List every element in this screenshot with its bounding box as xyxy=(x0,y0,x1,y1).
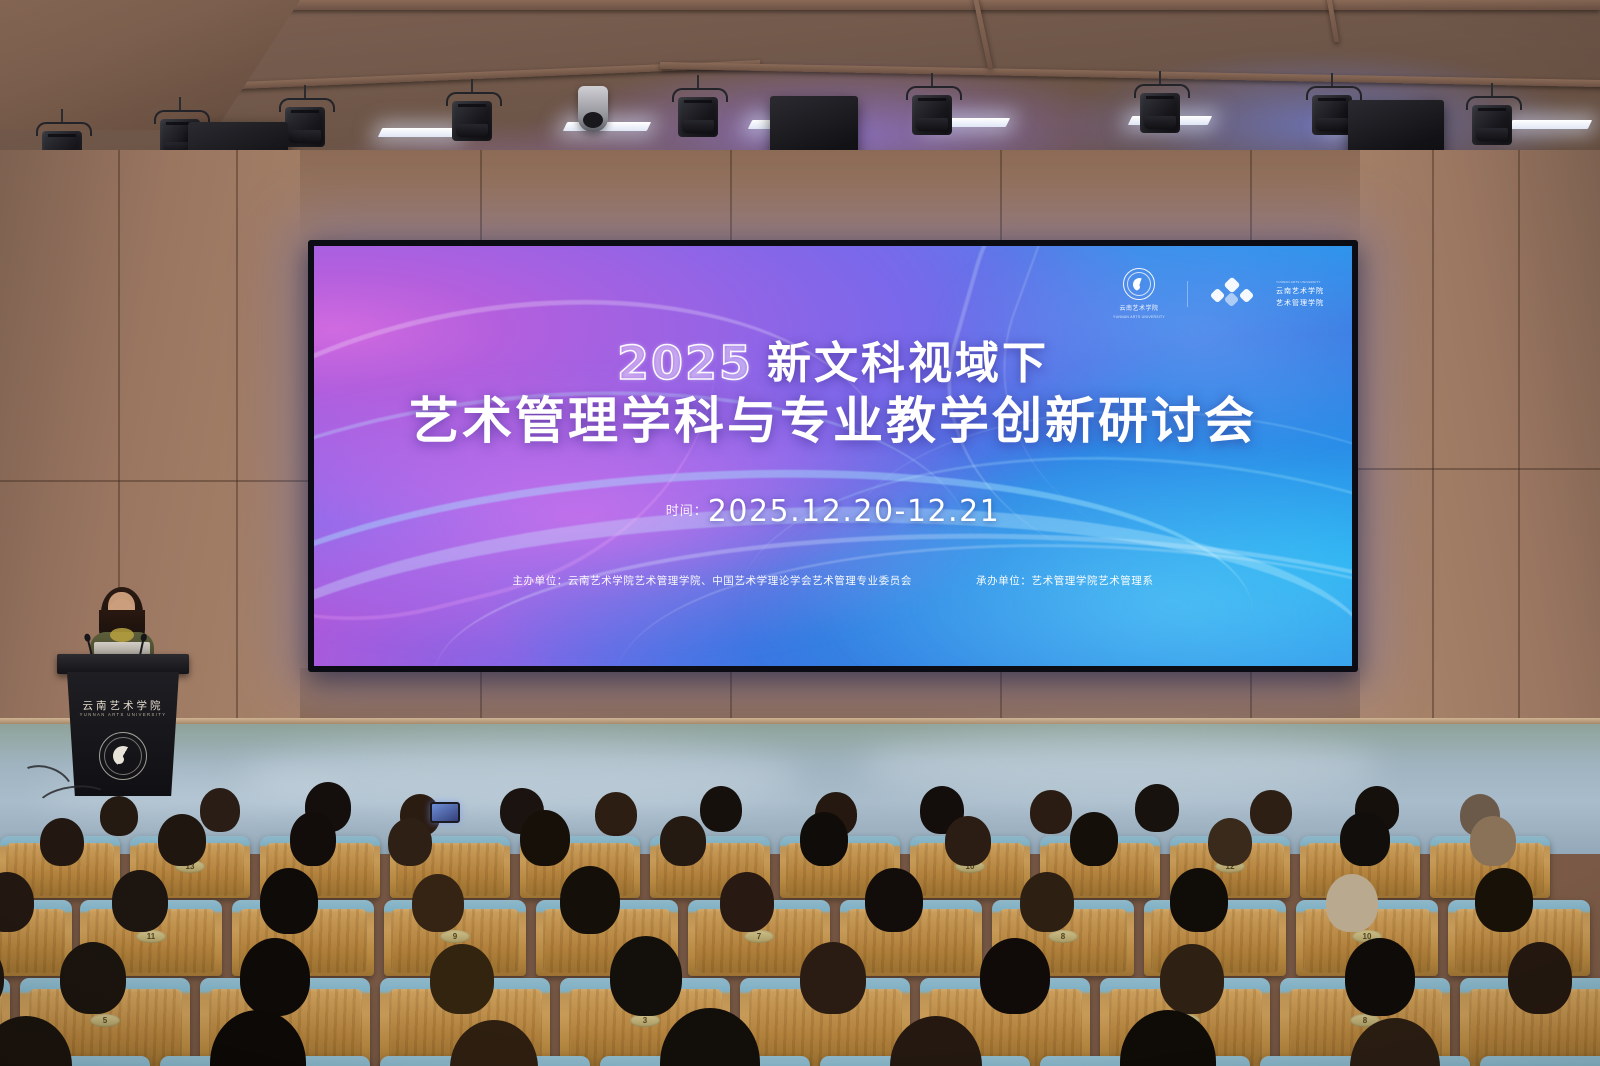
seat-number-plaque: 5 xyxy=(90,1014,120,1027)
auditorium-photo: 云南艺术学院 YUNNAN ARTS UNIVERSITY YUNNAN ART… xyxy=(0,0,1600,1066)
logo-en-line: YUNNAN ARTS UNIVERSITY xyxy=(1276,280,1324,284)
smartphone xyxy=(430,802,460,823)
wall-above-screen xyxy=(300,150,1360,244)
lectern-cn-name: 云南艺术学院 xyxy=(67,698,179,713)
stage-spotlight xyxy=(1470,96,1514,148)
stage-spotlight xyxy=(676,88,720,140)
stage-spotlight xyxy=(910,86,954,138)
lectern-top xyxy=(57,654,189,674)
seat-number-plaque: 9 xyxy=(440,930,470,943)
stage-spotlight xyxy=(283,98,327,150)
slide-logos: 云南艺术学院 YUNNAN ARTS UNIVERSITY YUNNAN ART… xyxy=(1113,268,1324,319)
lectern-en-name: YUNNAN ARTS UNIVERSITY xyxy=(67,712,179,717)
date-label: 时间： xyxy=(666,503,708,518)
slide-year: 2025 xyxy=(617,342,753,386)
ceiling-camera xyxy=(578,86,608,132)
seal-en-name: YUNNAN ARTS UNIVERSITY xyxy=(1113,315,1165,319)
logo-cn-line2: 艺术管理学院 xyxy=(1276,298,1324,308)
seal-cn-name: 云南艺术学院 xyxy=(1120,303,1159,312)
yunnan-arts-university-seal-logo: 云南艺术学院 YUNNAN ARTS UNIVERSITY xyxy=(1113,268,1165,319)
organizer-host: 主办单位：云南艺术学院艺术管理学院、中国艺术学理论学会艺术管理专业委员会 xyxy=(512,573,912,588)
slide-date: 时间：2025.12.20-12.21 xyxy=(314,494,1352,529)
logo-divider xyxy=(1187,281,1188,307)
university-seal-icon xyxy=(1123,268,1155,300)
seat-number-plaque: 8 xyxy=(1048,930,1078,943)
slide-organizers: 主办单位：云南艺术学院艺术管理学院、中国艺术学理论学会艺术管理专业委员会 承办单… xyxy=(314,573,1352,588)
organizer-executor: 承办单位：艺术管理学院艺术管理系 xyxy=(976,573,1154,588)
presenter-necklace xyxy=(110,628,134,642)
arts-management-diamond-icon xyxy=(1210,279,1254,309)
audience-seating: 13 10 12 xyxy=(0,760,1600,1066)
date-value: 2025.12.20-12.21 xyxy=(708,494,1000,529)
slide-title-block: 2025 新文科视域下 艺术管理学科与专业教学创新研讨会 xyxy=(314,342,1352,448)
right-wall xyxy=(1350,150,1600,750)
stage-spotlight xyxy=(1138,84,1182,136)
presentation-slide: 云南艺术学院 YUNNAN ARTS UNIVERSITY YUNNAN ART… xyxy=(314,246,1352,666)
slide-title-line1: 新文科视域下 xyxy=(767,342,1049,386)
arts-management-wordmark: YUNNAN ARTS UNIVERSITY 云南艺术学院 艺术管理学院 xyxy=(1276,280,1324,308)
wall-below-screen xyxy=(300,668,1360,724)
slide-title-line2: 艺术管理学科与专业教学创新研讨会 xyxy=(314,394,1352,448)
logo-cn-line1: 云南艺术学院 xyxy=(1276,286,1324,296)
led-screen: 云南艺术学院 YUNNAN ARTS UNIVERSITY YUNNAN ART… xyxy=(308,240,1358,672)
stage-spotlight xyxy=(450,92,494,144)
